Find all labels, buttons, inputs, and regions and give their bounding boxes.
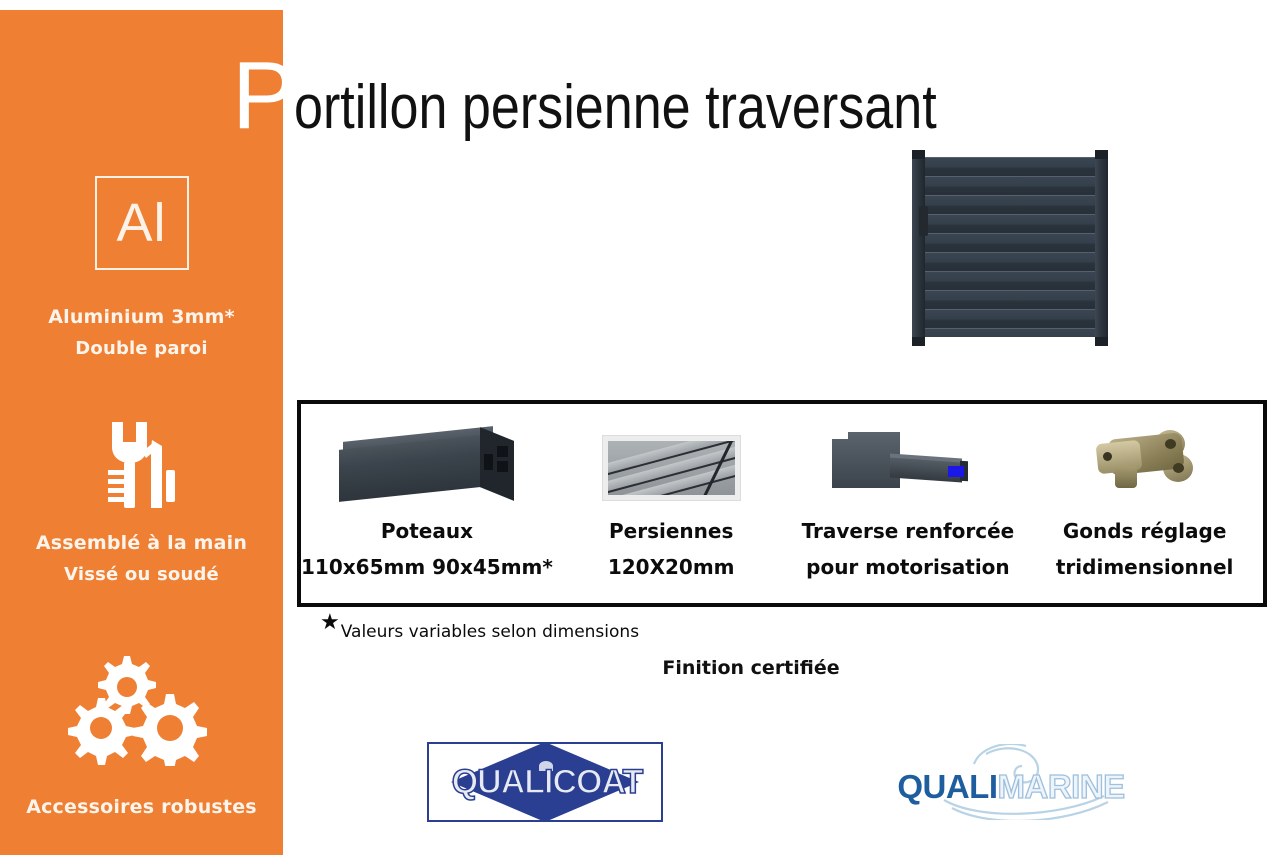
qualicoat-logo: QUALICOAT <box>427 742 663 822</box>
qualimarine-logo: QUALIMARINE <box>888 748 1134 820</box>
component-traverse-caption2: pour motorisation <box>806 552 1010 582</box>
component-persiennes-dimensions: 120X20mm <box>608 552 735 582</box>
component-poteaux-dimensions: 110x65mm 90x45mm* <box>301 552 553 582</box>
qualicoat-logo-text: QUALICOAT <box>429 764 665 800</box>
feature-accessories-line1: Accessoires robustes <box>0 794 283 820</box>
qualimarine-text-marine: MARINE <box>998 768 1125 805</box>
component-gonds-caption: Gonds réglage <box>1063 516 1227 546</box>
certification-heading-row: Finition certifiée <box>0 657 1282 679</box>
feature-assembly-line2: Vissé ou soudé <box>0 562 283 588</box>
product-datasheet: Al Aluminium 3mm* Double paroi <box>0 0 1282 855</box>
component-persiennes: Persiennes 120X20mm <box>553 404 790 603</box>
gate-post-right <box>1095 150 1108 346</box>
component-traverse-caption: Traverse renforcée <box>802 516 1015 546</box>
feature-aluminium: Al Aluminium 3mm* Double paroi <box>0 176 283 362</box>
certification-heading: Finition certifiée <box>662 657 839 679</box>
wrench-screwdriver-icon <box>0 416 283 516</box>
component-traverse: Traverse renforcée pour motorisation <box>790 404 1027 603</box>
footnote-text: Valeurs variables selon dimensions <box>341 622 639 642</box>
footnote-star-icon: ★ <box>320 614 340 632</box>
component-gonds: Gonds réglage tridimensionnel <box>1026 404 1263 603</box>
reinforced-crossbar-icon <box>828 420 988 500</box>
components-box: Poteaux 110x65mm 90x45mm* Persiennes 120… <box>297 400 1267 607</box>
feature-assembly-line1: Assemblé à la main <box>0 530 283 556</box>
post-profile-icon <box>339 420 514 500</box>
footnote: ★ Valeurs variables selon dimensions <box>320 614 639 642</box>
hinge-icon <box>1085 420 1205 500</box>
aluminium-square-icon: Al <box>0 176 283 270</box>
aluminium-symbol-label: Al <box>116 196 166 250</box>
component-poteaux: Poteaux 110x65mm 90x45mm* <box>301 404 553 603</box>
qualimarine-text-quali: QUALI <box>897 768 997 805</box>
qualimarine-logo-text: QUALIMARINE <box>888 770 1134 804</box>
louvre-photo-icon <box>603 420 740 500</box>
feature-assembly: Assemblé à la main Vissé ou soudé <box>0 416 283 588</box>
gate-illustration <box>912 150 1108 346</box>
component-gonds-caption2: tridimensionnel <box>1056 552 1234 582</box>
title-text: ortillon persienne traversant <box>294 77 937 139</box>
page-title: P ortillon persienne traversant <box>232 52 1059 144</box>
gate-handle <box>919 206 928 236</box>
feature-aluminium-line1: Aluminium 3mm* <box>0 304 283 330</box>
gate-leaf <box>925 157 1095 337</box>
gate-post-left <box>912 150 925 346</box>
component-persiennes-caption: Persiennes <box>609 516 733 546</box>
title-initial-letter: P <box>232 52 296 140</box>
feature-aluminium-line2: Double paroi <box>0 336 283 362</box>
component-poteaux-caption: Poteaux <box>381 516 473 546</box>
